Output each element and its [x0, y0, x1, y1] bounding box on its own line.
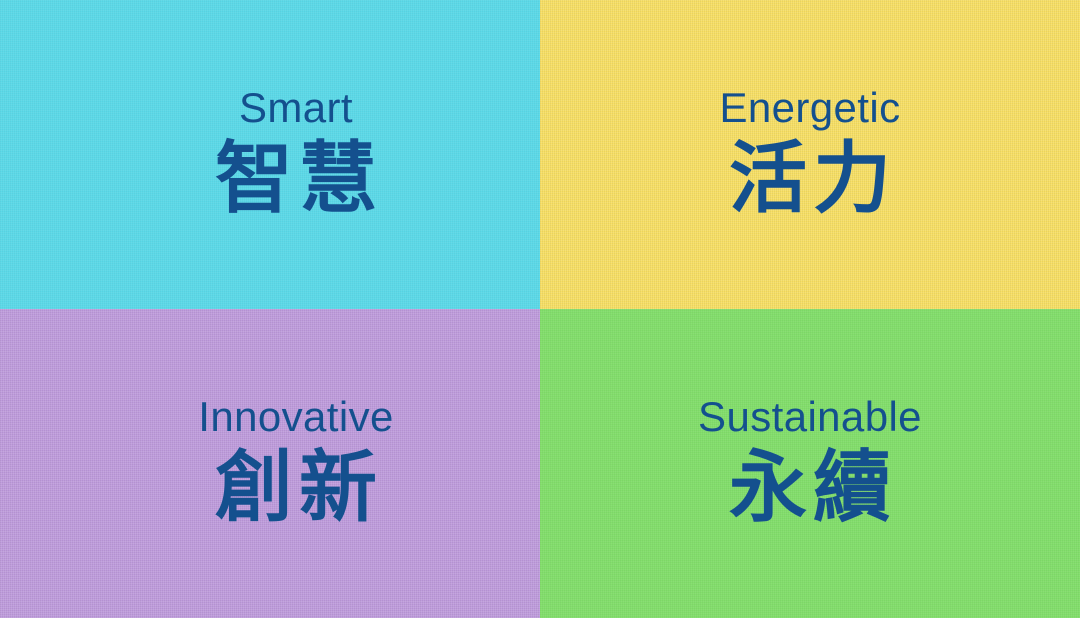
panel-energetic[interactable]: Energetic 活力 — [540, 0, 1080, 309]
brand-values-canvas: Smart 智慧 Energetic 活力 Innovative 創新 Sust… — [0, 0, 1080, 618]
panel-energetic-text: Energetic 活力 — [719, 86, 900, 223]
panel-innovative-english-label: Innovative — [198, 395, 393, 439]
panel-energetic-chinese-label: 活力 — [723, 136, 897, 223]
panel-sustainable-text: Sustainable 永續 — [698, 395, 922, 532]
panel-innovative-text: Innovative 創新 — [198, 395, 393, 532]
panel-smart-chinese-label: 智慧 — [209, 136, 383, 223]
panel-smart[interactable]: Smart 智慧 — [0, 0, 540, 309]
panel-sustainable-english-label: Sustainable — [698, 395, 922, 439]
panel-smart-text: Smart 智慧 — [209, 86, 383, 223]
panel-innovative-chinese-label: 創新 — [209, 445, 383, 532]
panel-sustainable[interactable]: Sustainable 永續 — [540, 309, 1080, 618]
brand-values-grid: Smart 智慧 Energetic 活力 Innovative 創新 Sust… — [0, 0, 1080, 618]
panel-innovative[interactable]: Innovative 創新 — [0, 309, 540, 618]
panel-smart-english-label: Smart — [239, 86, 353, 130]
panel-sustainable-chinese-label: 永續 — [723, 445, 897, 532]
panel-energetic-english-label: Energetic — [719, 86, 900, 130]
